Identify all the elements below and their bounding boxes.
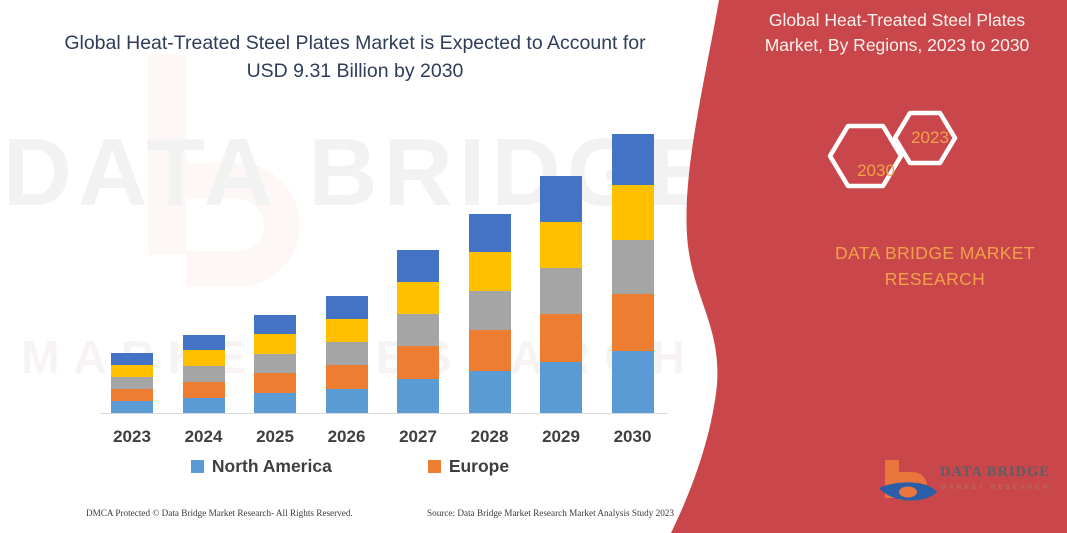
x-axis-label-2025: 2025 [235, 427, 315, 447]
x-axis-labels: 20232024202520262027202820292030 [0, 427, 700, 455]
bar-segment-2027-s4 [397, 282, 439, 314]
bar-segment-2025-s4 [254, 334, 296, 354]
bar-segment-2026-s3 [326, 342, 368, 365]
bar-segment-2026-s4 [326, 319, 368, 342]
bar-segment-2026-s5 [326, 296, 368, 319]
bar-segment-2030-s4 [612, 185, 654, 240]
bar-series-container [0, 0, 700, 413]
bar-segment-2029-s1 [540, 362, 582, 413]
bar-segment-2030-s3 [612, 240, 654, 294]
bar-2025[interactable] [254, 315, 296, 413]
bar-segment-2030-s2 [612, 294, 654, 351]
x-axis-label-2028: 2028 [450, 427, 530, 447]
bar-segment-2029-s2 [540, 314, 582, 362]
bar-segment-2029-s4 [540, 222, 582, 268]
bar-segment-2028-s2 [469, 330, 511, 371]
bar-2028[interactable] [469, 214, 511, 413]
bar-2023[interactable] [111, 353, 153, 413]
bar-segment-2023-s4 [111, 365, 153, 377]
bar-segment-2029-s5 [540, 176, 582, 222]
bar-2030[interactable] [612, 134, 654, 413]
x-axis-label-2030: 2030 [593, 427, 673, 447]
bar-segment-2030-s1 [612, 351, 654, 413]
legend-swatch-icon [191, 460, 204, 473]
bar-segment-2028-s3 [469, 291, 511, 330]
x-axis-label-2027: 2027 [378, 427, 458, 447]
bar-2026[interactable] [326, 296, 368, 413]
bar-segment-2026-s1 [326, 389, 368, 413]
bar-2024[interactable] [183, 335, 225, 413]
bar-segment-2028-s4 [469, 252, 511, 291]
logo-subtitle: MARKET RESEARCH [941, 484, 1050, 491]
bar-segment-2028-s5 [469, 214, 511, 252]
bar-segment-2027-s5 [397, 250, 439, 282]
bar-segment-2025-s2 [254, 373, 296, 393]
bar-segment-2028-s1 [469, 371, 511, 413]
bar-2027[interactable] [397, 250, 439, 413]
right-panel-title: Global Heat-Treated Steel Plates Market,… [742, 8, 1052, 59]
logo-wordmark: DATA BRIDGE [940, 464, 1050, 481]
infographic-canvas: DATA BRIDGE MARKET RESEARCH Global Heat-… [0, 0, 1067, 533]
x-axis-label-2024: 2024 [164, 427, 244, 447]
bar-segment-2023-s2 [111, 389, 153, 401]
x-axis-label-2029: 2029 [521, 427, 601, 447]
bar-segment-2030-s5 [612, 134, 654, 185]
legend-label: North America [212, 456, 332, 477]
bar-segment-2024-s1 [183, 398, 225, 413]
bar-segment-2025-s5 [254, 315, 296, 334]
bar-segment-2023-s3 [111, 377, 153, 389]
bar-segment-2024-s2 [183, 382, 225, 398]
legend-item-europe[interactable]: Europe [428, 456, 509, 477]
legend-label: Europe [449, 456, 509, 477]
footer-source: Source: Data Bridge Market Research Mark… [427, 508, 674, 518]
x-axis-label-2023: 2023 [92, 427, 172, 447]
bar-segment-2023-s1 [111, 401, 153, 413]
bar-segment-2025-s1 [254, 393, 296, 413]
bar-segment-2025-s3 [254, 354, 296, 373]
bar-segment-2027-s3 [397, 314, 439, 346]
x-axis-label-2026: 2026 [307, 427, 387, 447]
x-axis-line [100, 413, 668, 414]
bar-segment-2024-s5 [183, 335, 225, 350]
chart-area: 20232024202520262027202820292030 [0, 0, 700, 470]
bar-segment-2023-s5 [111, 353, 153, 365]
bar-segment-2026-s2 [326, 365, 368, 389]
bar-2029[interactable] [540, 176, 582, 413]
bar-segment-2027-s2 [397, 346, 439, 379]
footer: DMCA Protected © Data Bridge Market Rese… [0, 506, 700, 528]
brand-name: DATA BRIDGE MARKET RESEARCH [790, 240, 1067, 293]
legend-swatch-icon [428, 460, 441, 473]
bar-segment-2024-s4 [183, 350, 225, 366]
bar-segment-2029-s3 [540, 268, 582, 314]
hexagon-label-2023: 2023 [895, 128, 965, 148]
legend-item-north-america[interactable]: North America [191, 456, 332, 477]
footer-copyright: DMCA Protected © Data Bridge Market Rese… [86, 508, 353, 518]
hexagon-badges [800, 98, 1020, 218]
bar-segment-2024-s3 [183, 366, 225, 382]
hexagon-label-2030: 2030 [841, 161, 911, 181]
bar-segment-2027-s1 [397, 379, 439, 413]
chart-legend: North AmericaEurope [0, 456, 700, 477]
